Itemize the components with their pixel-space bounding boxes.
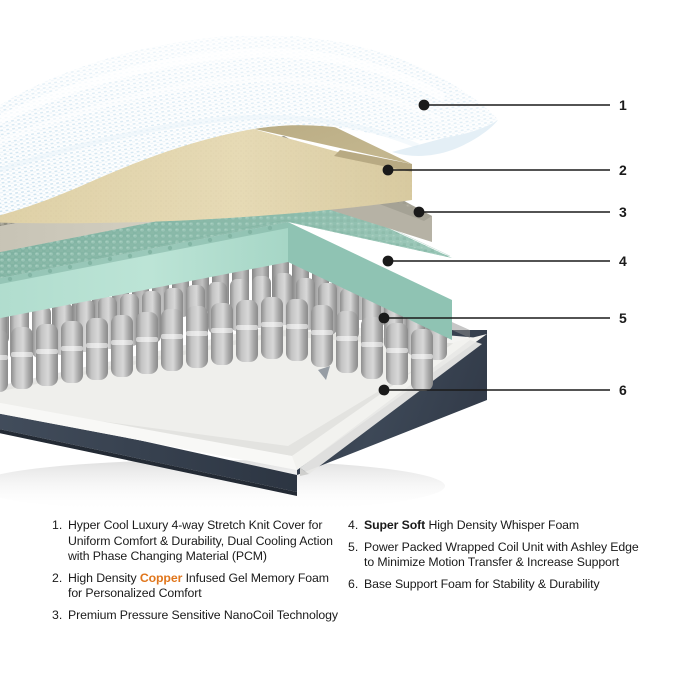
copper-highlight: Copper [140, 571, 182, 585]
legend-item-index: 3. [52, 608, 68, 624]
legend-item-index: 1. [52, 518, 68, 534]
legend-item-index: 4. [348, 518, 364, 534]
legend-item: 5.Power Packed Wrapped Coil Unit with As… [348, 540, 648, 571]
callout-number-2: 2 [619, 163, 627, 177]
mattress-illustration: 1 2 3 4 5 6 [0, 0, 700, 515]
legend: 1.Hyper Cool Luxury 4-way Stretch Knit C… [0, 518, 700, 700]
legend-item-index: 2. [52, 571, 68, 587]
legend-item: 2.High Density Copper Infused Gel Memory… [52, 571, 342, 602]
callout-number-1: 1 [619, 98, 627, 112]
mattress-layer-diagram-page: 1 2 3 4 5 6 1.Hyper Cool Luxury 4-way St… [0, 0, 700, 700]
legend-item-index: 5. [348, 540, 364, 556]
legend-item-text: Base Support Foam for Stability & Durabi… [364, 577, 648, 593]
legend-column-left: 1.Hyper Cool Luxury 4-way Stretch Knit C… [52, 518, 342, 629]
callout-number-4: 4 [619, 254, 627, 268]
legend-item-text: Super Soft High Density Whisper Foam [364, 518, 648, 534]
legend-item-text: Hyper Cool Luxury 4-way Stretch Knit Cov… [68, 518, 342, 565]
legend-item-text: High Density Copper Infused Gel Memory F… [68, 571, 342, 602]
legend-item-text: Premium Pressure Sensitive NanoCoil Tech… [68, 608, 342, 624]
callout-number-6: 6 [619, 383, 627, 397]
legend-item-text: Power Packed Wrapped Coil Unit with Ashl… [364, 540, 648, 571]
callout-number-3: 3 [619, 205, 627, 219]
legend-item: 4.Super Soft High Density Whisper Foam [348, 518, 648, 534]
legend-item-index: 6. [348, 577, 364, 593]
legend-column-right: 4.Super Soft High Density Whisper Foam5.… [348, 518, 648, 598]
legend-item: 6.Base Support Foam for Stability & Dura… [348, 577, 648, 593]
legend-item: 3.Premium Pressure Sensitive NanoCoil Te… [52, 608, 342, 624]
callout-number-5: 5 [619, 311, 627, 325]
legend-item: 1.Hyper Cool Luxury 4-way Stretch Knit C… [52, 518, 342, 565]
